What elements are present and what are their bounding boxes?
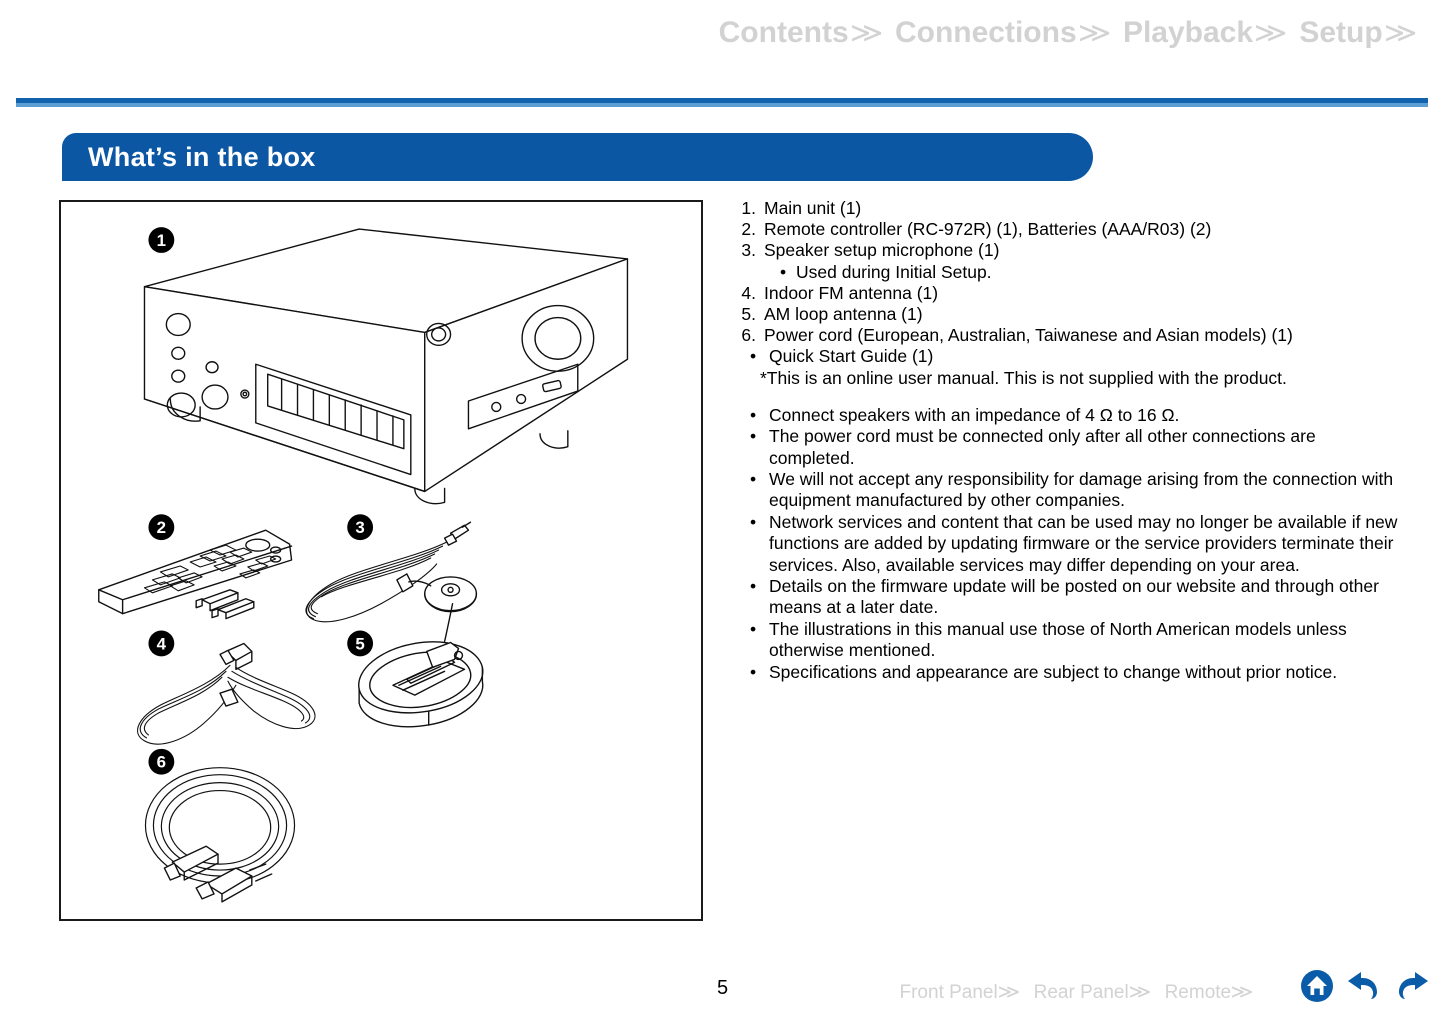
svg-text:5: 5 bbox=[355, 634, 364, 653]
sub-bullet-initial-setup: • Used during Initial Setup. bbox=[780, 262, 1398, 283]
chevron-double-right-icon: ≫ bbox=[849, 16, 883, 49]
note-item: • Specifications and appearance are subj… bbox=[750, 662, 1398, 683]
note-text: The illustrations in this manual use tho… bbox=[769, 619, 1398, 662]
svg-text:6: 6 bbox=[157, 753, 166, 772]
list-marker: 3. bbox=[738, 240, 764, 261]
bullet-text: Quick Start Guide (1) bbox=[769, 346, 933, 367]
accessories-list-continued: 4. Indoor FM antenna (1) 5. AM loop ante… bbox=[738, 283, 1398, 347]
bullet-dot-icon: • bbox=[780, 262, 796, 283]
list-marker: 5. bbox=[738, 304, 764, 325]
bullet-dot-icon: • bbox=[750, 576, 769, 597]
quick-start-footnote: *This is an online user manual. This is … bbox=[760, 368, 1398, 389]
list-item: 1. Main unit (1) bbox=[738, 198, 1398, 219]
chevron-double-right-icon: ≫ bbox=[1383, 16, 1417, 49]
svg-text:4: 4 bbox=[157, 634, 167, 653]
top-navigation: Contents ≫ Connections ≫ Playback ≫ Setu… bbox=[0, 10, 1429, 56]
notes-list: • Connect speakers with an impedance of … bbox=[738, 405, 1398, 683]
badge-4: 4 bbox=[148, 631, 174, 657]
header-divider bbox=[16, 98, 1428, 107]
svg-text:2: 2 bbox=[157, 518, 166, 537]
setup-microphone-drawing bbox=[306, 522, 476, 622]
bullet-dot-icon: • bbox=[750, 619, 769, 640]
note-text: Details on the firmware update will be p… bbox=[769, 576, 1398, 619]
topnav-item-setup[interactable]: Setup ≫ bbox=[1299, 16, 1429, 50]
chevron-double-right-icon: ≫ bbox=[1231, 981, 1254, 1004]
note-item: • Details on the firmware update will be… bbox=[750, 576, 1398, 619]
badge-1: 1 bbox=[148, 227, 174, 253]
topnav-item-playback[interactable]: Playback ≫ bbox=[1123, 16, 1299, 50]
note-item: • We will not accept any responsibility … bbox=[750, 469, 1398, 512]
footer-link-front-panel[interactable]: Front Panel ≫ bbox=[900, 981, 1034, 1004]
topnav-item-contents[interactable]: Contents ≫ bbox=[719, 16, 895, 50]
topnav-label: Setup bbox=[1299, 16, 1382, 50]
list-text: Remote controller (RC-972R) (1), Batteri… bbox=[764, 219, 1398, 240]
divider-bottom-band bbox=[16, 103, 1428, 107]
badge-3: 3 bbox=[347, 514, 373, 540]
am-loop-antenna-drawing bbox=[359, 604, 483, 727]
accessories-illustration-box: 1 bbox=[59, 200, 703, 921]
note-item: • The power cord must be connected only … bbox=[750, 426, 1398, 469]
footer-link-label: Remote bbox=[1165, 982, 1232, 1004]
forward-arrow-icon[interactable] bbox=[1391, 966, 1433, 1006]
home-icon[interactable] bbox=[1297, 966, 1337, 1006]
bullet-dot-icon: • bbox=[750, 346, 769, 367]
topnav-item-connections[interactable]: Connections ≫ bbox=[895, 16, 1123, 50]
list-marker: 2. bbox=[738, 219, 764, 240]
topnav-label: Connections bbox=[895, 16, 1077, 50]
footer-icon-group bbox=[1297, 966, 1433, 1006]
list-text: Indoor FM antenna (1) bbox=[764, 283, 1398, 304]
list-text: Main unit (1) bbox=[764, 198, 1398, 219]
list-text: Speaker setup microphone (1) bbox=[764, 240, 1398, 261]
power-cord-drawing bbox=[145, 768, 294, 902]
remote-controller-drawing bbox=[99, 530, 292, 618]
list-item: 2. Remote controller (RC-972R) (1), Batt… bbox=[738, 219, 1398, 240]
svg-text:3: 3 bbox=[355, 518, 364, 537]
badge-5: 5 bbox=[347, 631, 373, 657]
bullet-dot-icon: • bbox=[750, 405, 769, 426]
badge-6: 6 bbox=[148, 749, 174, 775]
list-item: 3. Speaker setup microphone (1) bbox=[738, 240, 1398, 261]
list-text: Power cord (European, Australian, Taiwan… bbox=[764, 325, 1398, 346]
footer-link-label: Rear Panel bbox=[1034, 982, 1129, 1004]
note-text: Network services and content that can be… bbox=[769, 512, 1398, 576]
note-item: • Connect speakers with an impedance of … bbox=[750, 405, 1398, 426]
list-marker: 6. bbox=[738, 325, 764, 346]
topnav-label: Playback bbox=[1123, 16, 1253, 50]
note-text: The power cord must be connected only af… bbox=[769, 426, 1398, 469]
svg-text:1: 1 bbox=[157, 231, 166, 250]
note-text: We will not accept any responsibility fo… bbox=[769, 469, 1398, 512]
fm-antenna-drawing bbox=[138, 643, 315, 744]
footer-link-remote[interactable]: Remote ≫ bbox=[1165, 981, 1267, 1004]
note-item: • The illustrations in this manual use t… bbox=[750, 619, 1398, 662]
back-arrow-icon[interactable] bbox=[1343, 966, 1385, 1006]
list-marker: 1. bbox=[738, 198, 764, 219]
list-item: 4. Indoor FM antenna (1) bbox=[738, 283, 1398, 304]
list-text: AM loop antenna (1) bbox=[764, 304, 1398, 325]
footer-link-label: Front Panel bbox=[900, 982, 998, 1004]
list-item: 5. AM loop antenna (1) bbox=[738, 304, 1398, 325]
contents-column: 1. Main unit (1) 2. Remote controller (R… bbox=[738, 198, 1398, 683]
bullet-dot-icon: • bbox=[750, 512, 769, 533]
sub-bullet-text: Used during Initial Setup. bbox=[796, 262, 992, 283]
list-marker: 4. bbox=[738, 283, 764, 304]
bullet-dot-icon: • bbox=[750, 469, 769, 490]
chevron-double-right-icon: ≫ bbox=[997, 981, 1020, 1004]
chevron-double-right-icon: ≫ bbox=[1077, 16, 1111, 49]
footer-links: Front Panel ≫ Rear Panel ≫ Remote ≫ bbox=[900, 981, 1268, 1004]
accessories-list: 1. Main unit (1) 2. Remote controller (R… bbox=[738, 198, 1398, 262]
accessories-illustration: 1 bbox=[61, 202, 701, 919]
page-title: What’s in the box bbox=[88, 142, 316, 173]
topnav-label: Contents bbox=[719, 16, 849, 50]
main-unit-drawing bbox=[144, 229, 627, 504]
bullet-dot-icon: • bbox=[750, 426, 769, 447]
badge-2: 2 bbox=[148, 514, 174, 540]
note-text: Connect speakers with an impedance of 4 … bbox=[769, 405, 1398, 426]
chevron-double-right-icon: ≫ bbox=[1254, 16, 1288, 49]
list-item: 6. Power cord (European, Australian, Tai… bbox=[738, 325, 1398, 346]
note-item: • Network services and content that can … bbox=[750, 512, 1398, 576]
note-text: Specifications and appearance are subjec… bbox=[769, 662, 1398, 683]
bullet-quick-start-guide: • Quick Start Guide (1) bbox=[750, 346, 1398, 367]
footer-link-rear-panel[interactable]: Rear Panel ≫ bbox=[1034, 981, 1165, 1004]
section-banner: What’s in the box bbox=[62, 133, 1093, 181]
bullet-dot-icon: • bbox=[750, 662, 769, 683]
chevron-double-right-icon: ≫ bbox=[1128, 981, 1151, 1004]
